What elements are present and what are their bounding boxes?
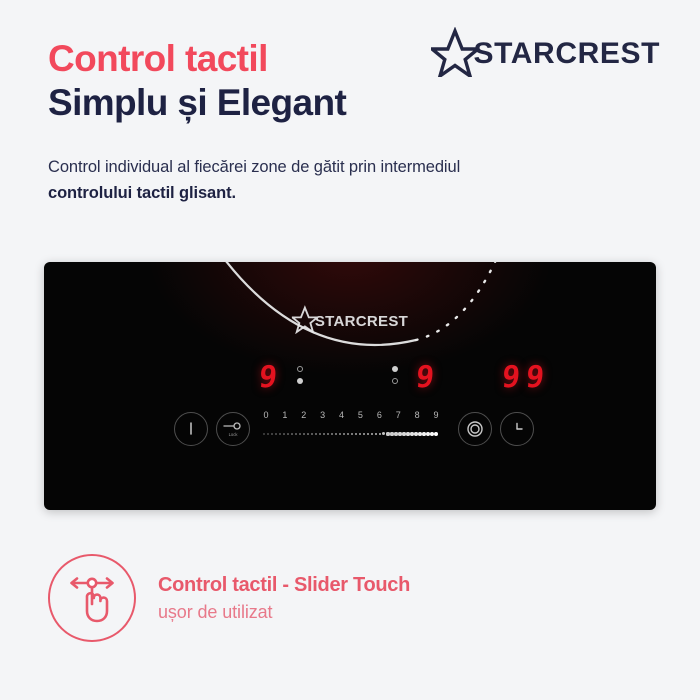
slider-track-dot xyxy=(390,432,393,435)
slider-scale-label: 8 xyxy=(415,410,420,420)
header-section: Control tactil Simplu și Elegant Control… xyxy=(0,0,700,232)
indicator-dot xyxy=(297,366,303,372)
slider-scale-label: 4 xyxy=(339,410,344,420)
cooktop-panel: STARCREST 9999 Lock 0123456789 xyxy=(44,262,656,510)
slider-track-dot xyxy=(287,433,289,435)
indicator-dot xyxy=(392,378,398,384)
led-digit: 9 xyxy=(500,362,521,394)
slider-track-dot xyxy=(323,433,325,435)
footer-badge: Control tactil - Slider Touch ușor de ut… xyxy=(48,554,410,642)
slider-track-dot xyxy=(363,433,366,436)
led-digit: 9 xyxy=(414,362,435,394)
slider-track-dot xyxy=(331,433,333,435)
led-digit: 9 xyxy=(524,362,545,394)
slider-track-dot xyxy=(275,433,276,434)
slider-scale-labels: 0123456789 xyxy=(260,410,442,424)
slider-track-dot xyxy=(398,432,401,435)
headline-line-2: Simplu și Elegant xyxy=(48,81,468,125)
slider-track-dot xyxy=(367,433,370,436)
slider-track-dot xyxy=(299,433,301,435)
power-icon xyxy=(182,420,200,438)
slider-track-dot xyxy=(414,432,417,435)
slider-track-dot xyxy=(279,433,280,434)
slider-track-dot xyxy=(339,433,341,435)
pause-button[interactable] xyxy=(458,412,492,446)
indicator-dot-pair xyxy=(392,366,400,390)
slider-scale-label: 2 xyxy=(301,410,306,420)
led-digit: 9 xyxy=(257,362,278,394)
key-lock-icon: Lock xyxy=(221,419,245,439)
slider-scale-label: 6 xyxy=(377,410,382,420)
indicator-dot xyxy=(392,366,398,372)
cooktop-brand-logo: STARCREST xyxy=(292,306,408,336)
slider-track-dot xyxy=(351,433,354,436)
slider-track-dot xyxy=(303,433,305,435)
slider-scale-label: 1 xyxy=(282,410,287,420)
headline-line-1: Control tactil xyxy=(48,38,468,79)
slider-track-dot xyxy=(402,432,405,435)
subtitle-bold-text: controlului tactil glisant. xyxy=(48,184,236,202)
svg-text:Lock: Lock xyxy=(229,432,239,437)
slider-scale-label: 0 xyxy=(263,410,268,420)
subtitle-paragraph: Control individual al fiecărei zone de g… xyxy=(48,155,478,206)
slider-track-dot xyxy=(410,432,413,435)
cooktop-brand-wordmark: STARCREST xyxy=(315,313,408,330)
badge-icon-circle xyxy=(48,554,136,642)
double-circle-icon xyxy=(465,419,485,439)
badge-text-block: Control tactil - Slider Touch ușor de ut… xyxy=(158,572,410,624)
subtitle-normal-text: Control individual al fiecărei zone de g… xyxy=(48,158,460,176)
slider-track-dot xyxy=(263,433,264,434)
slider-scale-label: 5 xyxy=(358,410,363,420)
slider-track-dot xyxy=(355,433,358,436)
touch-control-row: Lock 0123456789 xyxy=(44,410,656,456)
slider-track-dot xyxy=(295,433,297,435)
slider-touch-hand-icon xyxy=(66,571,118,625)
slider-scale-label: 9 xyxy=(433,410,438,420)
star-outline-icon xyxy=(431,27,479,82)
slider-track-dot xyxy=(347,433,349,435)
slider-track-dot xyxy=(394,432,397,435)
timer-button[interactable] xyxy=(500,412,534,446)
slider-track-dot xyxy=(335,433,337,435)
headline-block: Control tactil Simplu și Elegant xyxy=(48,38,468,125)
slider-scale-label: 7 xyxy=(396,410,401,420)
brand-logo: STARCREST xyxy=(431,28,660,80)
slider-track-dot xyxy=(307,433,309,435)
slider-track-dot xyxy=(434,432,438,436)
child-lock-button[interactable]: Lock xyxy=(216,412,250,446)
indicator-dot-pair xyxy=(297,366,305,390)
slider-track-dot xyxy=(359,433,362,436)
slider-track-dot xyxy=(311,433,313,435)
slider-track-dot xyxy=(343,433,345,435)
slider-track-dot xyxy=(283,433,285,435)
brand-wordmark: STARCREST xyxy=(473,37,660,71)
slider-track-dot xyxy=(271,433,272,434)
slider-scale-label: 3 xyxy=(320,410,325,420)
indicator-dot xyxy=(297,378,303,384)
power-level-slider[interactable]: 0123456789 xyxy=(260,410,442,452)
badge-title: Control tactil - Slider Touch xyxy=(158,572,410,598)
slider-track-dot xyxy=(315,433,317,435)
slider-track-dot xyxy=(382,432,385,435)
slider-track-dot xyxy=(386,432,389,435)
slider-track-dot xyxy=(267,433,268,434)
slider-track-dot xyxy=(291,433,293,435)
slider-track-dot xyxy=(327,433,329,435)
slider-track-dot xyxy=(319,433,321,435)
slider-track-dot xyxy=(406,432,409,435)
badge-subtitle: ușor de utilizat xyxy=(158,600,410,624)
led-display-row: 9999 xyxy=(44,362,656,396)
slider-track-dot xyxy=(379,433,382,436)
clock-icon xyxy=(507,419,527,439)
slider-track[interactable] xyxy=(260,430,442,440)
slider-track-dot xyxy=(375,433,378,436)
slider-track-dot xyxy=(371,433,374,436)
power-button[interactable] xyxy=(174,412,208,446)
